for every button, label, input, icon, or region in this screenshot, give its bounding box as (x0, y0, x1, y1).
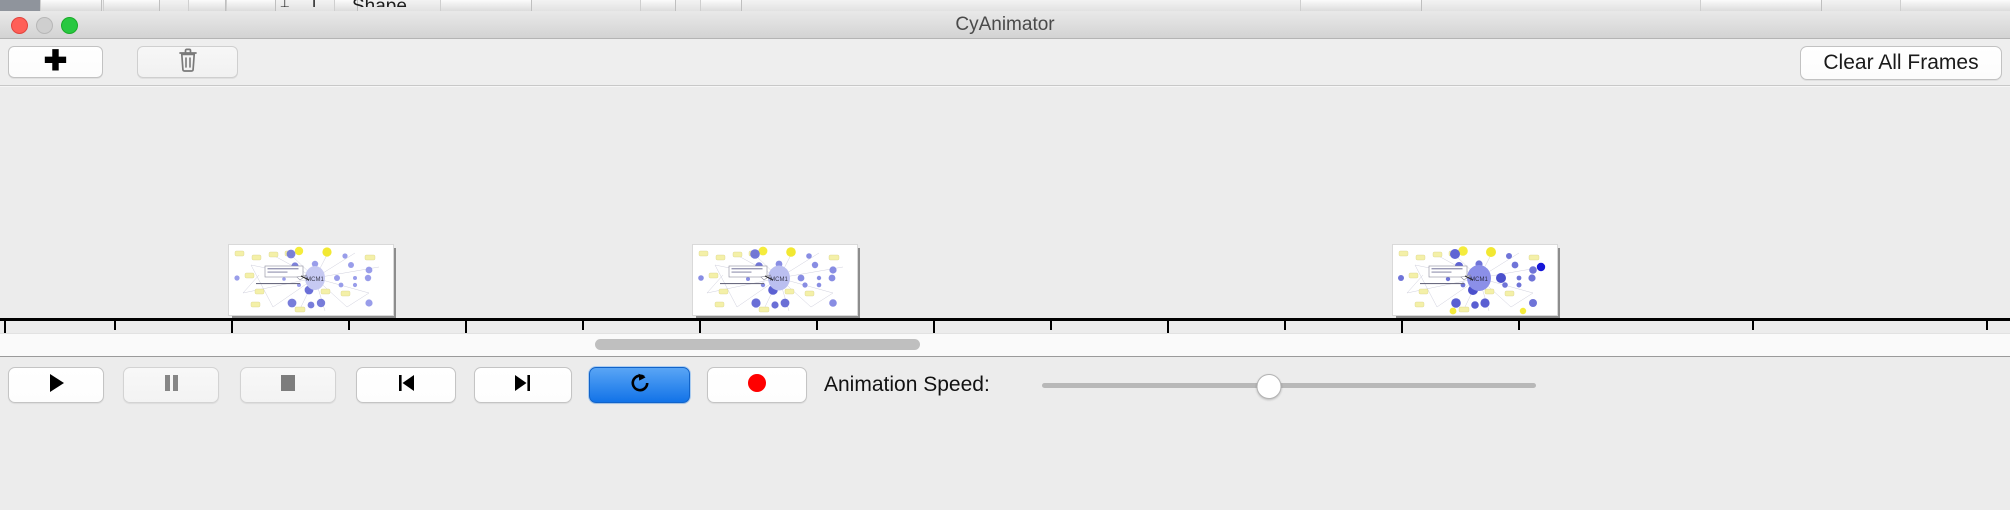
ruler-tick-minor (348, 321, 350, 330)
clear-all-frames-button[interactable]: Clear All Frames (1800, 46, 2002, 80)
previous-frame-button[interactable] (356, 367, 456, 403)
ruler-tick-minor (816, 321, 818, 330)
stop-button[interactable] (240, 367, 336, 403)
animation-speed-slider-thumb[interactable] (1257, 374, 1282, 399)
pause-icon (159, 371, 183, 400)
ruler-tick-minor (582, 321, 584, 330)
ruler-baseline (0, 318, 2010, 321)
ruler-tick-minor (1986, 321, 1988, 330)
window-title: CyAnimator (0, 11, 2010, 38)
clear-all-frames-label: Clear All Frames (1823, 51, 1978, 75)
animation-speed-label: Animation Speed: (824, 367, 990, 403)
next-frame-button[interactable] (474, 367, 572, 403)
skip-forward-icon (511, 371, 535, 400)
frame-toolbar: ✚ Clear All Frames (0, 39, 2010, 86)
ruler-tick-minor (114, 321, 116, 330)
ruler-tick-minor (1518, 321, 1520, 330)
animation-speed-slider[interactable] (1042, 383, 1536, 388)
frame-image: MCM1 (1392, 244, 1558, 316)
timeline-scrollbar[interactable] (0, 333, 2010, 356)
add-frame-button[interactable]: ✚ (8, 46, 103, 78)
trash-icon (177, 47, 199, 78)
ruler-tick-minor (1284, 321, 1286, 330)
background-window-text: Shape (352, 0, 407, 7)
plus-icon: ✚ (44, 47, 67, 75)
record-icon (745, 371, 769, 400)
background-window-strip: ⌶ ǀ Shape (0, 0, 2010, 11)
record-button[interactable] (707, 367, 807, 403)
frame-image: MCM1 (692, 244, 858, 316)
pause-button[interactable] (123, 367, 219, 403)
ruler-tick-minor (1752, 321, 1754, 330)
scrollbar-thumb[interactable] (595, 339, 920, 350)
frame-thumbnail-1[interactable]: MCM1 (228, 244, 394, 318)
skip-back-icon (394, 371, 418, 400)
timeline-panel[interactable]: MCM1 (0, 86, 2010, 333)
play-icon (44, 371, 68, 400)
loop-button[interactable] (589, 367, 690, 403)
transport-bar: Animation Speed: (0, 356, 2010, 415)
frame-thumbnail-3[interactable]: MCM1 (1392, 244, 1558, 318)
ruler-tick-minor (1050, 321, 1052, 330)
frame-image: MCM1 (228, 244, 394, 316)
title-bar: CyAnimator (0, 11, 2010, 39)
loop-icon (627, 370, 653, 401)
cyanimator-window: ⌶ ǀ Shape CyAnimator ✚ (0, 0, 2010, 510)
play-button[interactable] (8, 367, 104, 403)
frame-thumbnail-2[interactable]: MCM1 (692, 244, 858, 318)
stop-icon (276, 371, 300, 400)
delete-frame-button[interactable] (137, 46, 238, 78)
